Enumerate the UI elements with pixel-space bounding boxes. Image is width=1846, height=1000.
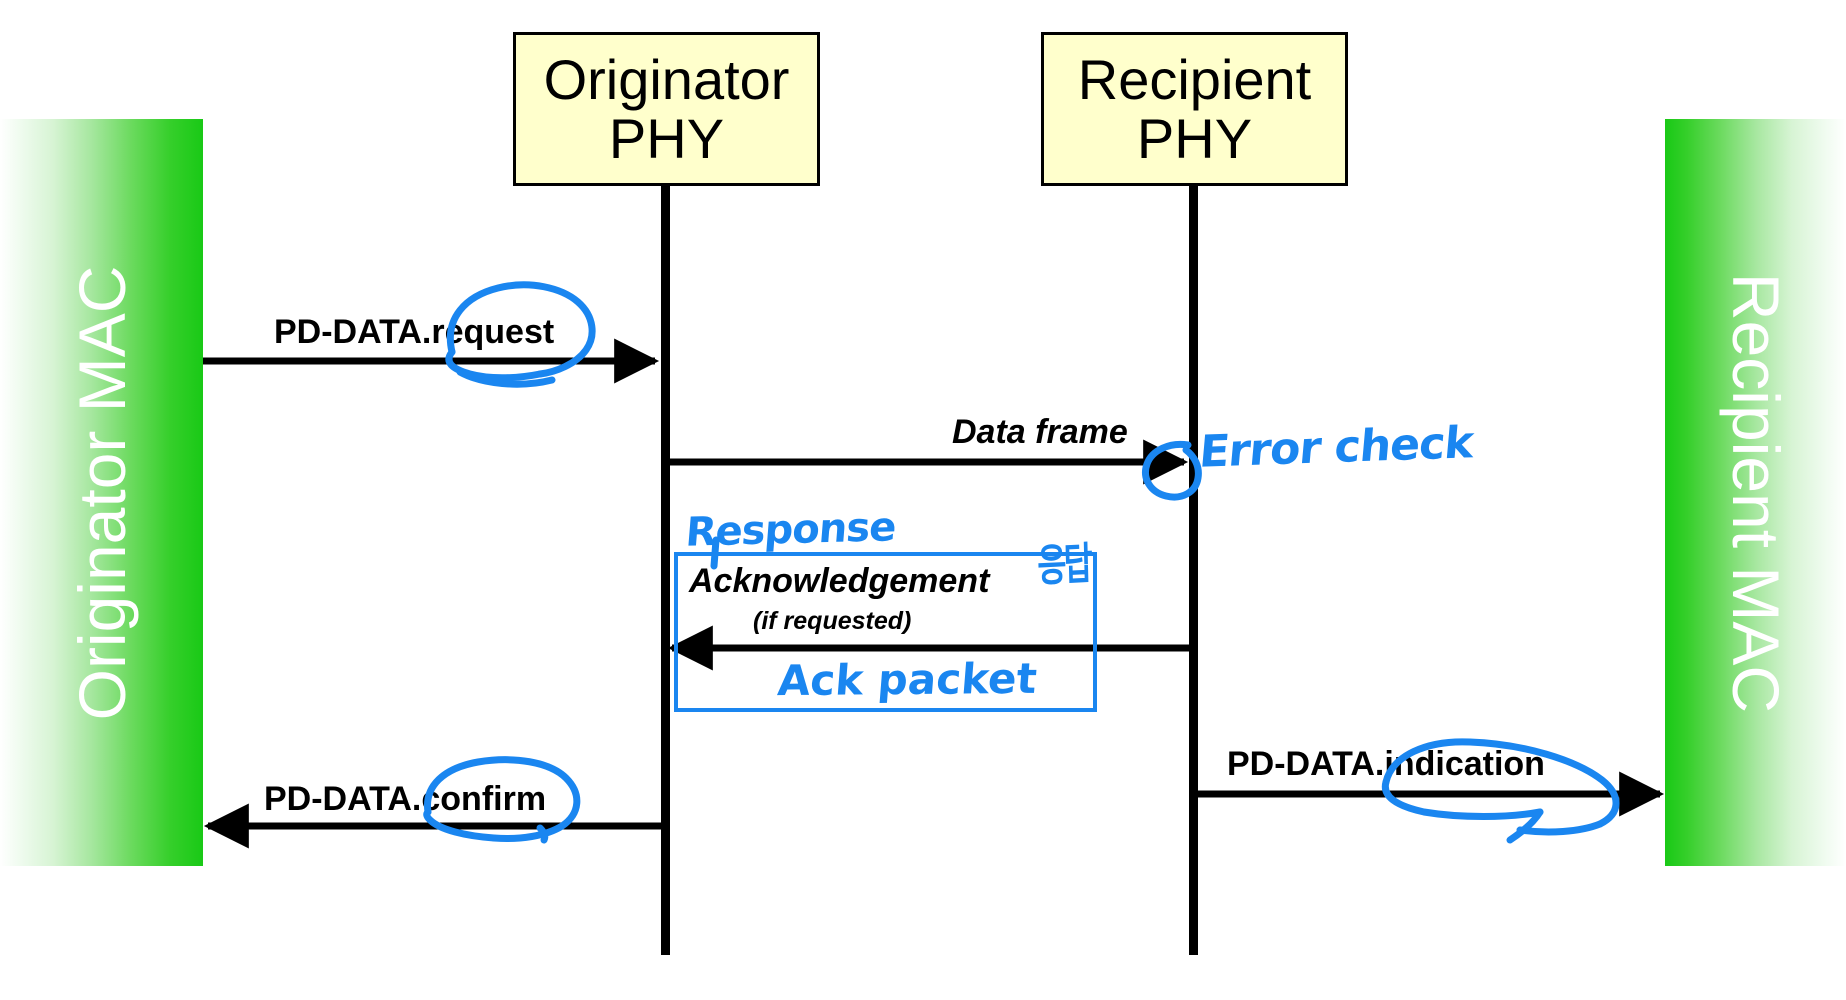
originator-phy-lifeline: [661, 186, 670, 955]
originator-phy-title-line1: Originator: [544, 50, 790, 109]
recipient-phy-lifeline: [1189, 186, 1198, 955]
originator-phy-title-line2: PHY: [609, 109, 724, 168]
ink-text-response: Response: [684, 504, 897, 555]
originator-phy-box: Originator PHY: [513, 32, 820, 186]
recipient-phy-title-line1: Recipient: [1078, 50, 1311, 109]
recipient-mac-lane: Recipient MAC: [1665, 119, 1846, 866]
message-arrows-layer: [0, 0, 1846, 1000]
label-pd-data-request: PD-DATA.request: [274, 313, 554, 352]
label-pd-data-confirm: PD-DATA.confirm: [264, 780, 546, 819]
ink-text-ack-packet: Ack packet: [776, 654, 1039, 705]
label-pd-data-indication: PD-DATA.indication: [1227, 745, 1545, 784]
recipient-mac-label: Recipient MAC: [1718, 272, 1794, 712]
ink-annotation-layer: [0, 0, 1846, 1000]
originator-mac-lane: Originator MAC: [0, 119, 203, 866]
ink-text-error-check: Error check: [1197, 417, 1475, 477]
originator-mac-label: Originator MAC: [64, 265, 140, 720]
ink-text-korean-response: 응답: [1037, 547, 1090, 584]
recipient-phy-box: Recipient PHY: [1041, 32, 1348, 186]
recipient-phy-title-line2: PHY: [1137, 109, 1252, 168]
sequence-diagram-canvas: Originator MAC Recipient MAC Originator …: [0, 0, 1846, 1000]
label-data-frame: Data frame: [952, 413, 1128, 452]
